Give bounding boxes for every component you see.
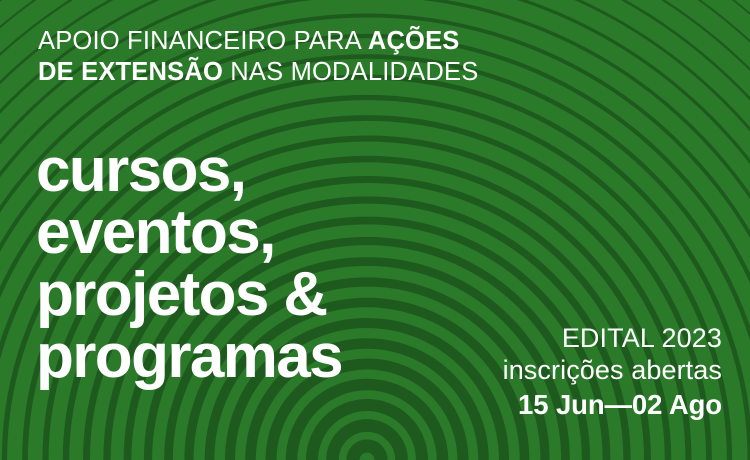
kicker-text: APOIO FINANCEIRO PARA AÇÕES DE EXTENSÃO …: [38, 26, 678, 88]
kicker-line-1: APOIO FINANCEIRO PARA AÇÕES: [38, 26, 678, 57]
kicker-line-2-regular: NAS MODALIDADES: [223, 58, 478, 86]
headline-line-2: eventos,: [36, 202, 596, 264]
headline-line-3: projetos &: [36, 264, 596, 326]
callout-block: EDITAL 2023 inscrições abertas 15 Jun—02…: [292, 322, 722, 422]
kicker-line-1-bold: AÇÕES: [368, 27, 460, 55]
callout-edital-label: EDITAL 2023: [292, 322, 722, 354]
kicker-line-2-bold: DE EXTENSÃO: [38, 58, 223, 86]
banner-content: APOIO FINANCEIRO PARA AÇÕES DE EXTENSÃO …: [0, 0, 750, 460]
headline-line-1: cursos,: [36, 140, 596, 202]
callout-status-label: inscrições abertas: [292, 354, 722, 386]
promo-banner: APOIO FINANCEIRO PARA AÇÕES DE EXTENSÃO …: [0, 0, 750, 460]
callout-date-range: 15 Jun—02 Ago: [292, 388, 722, 422]
kicker-line-1-regular: APOIO FINANCEIRO PARA: [38, 27, 368, 55]
kicker-line-2: DE EXTENSÃO NAS MODALIDADES: [38, 57, 678, 88]
